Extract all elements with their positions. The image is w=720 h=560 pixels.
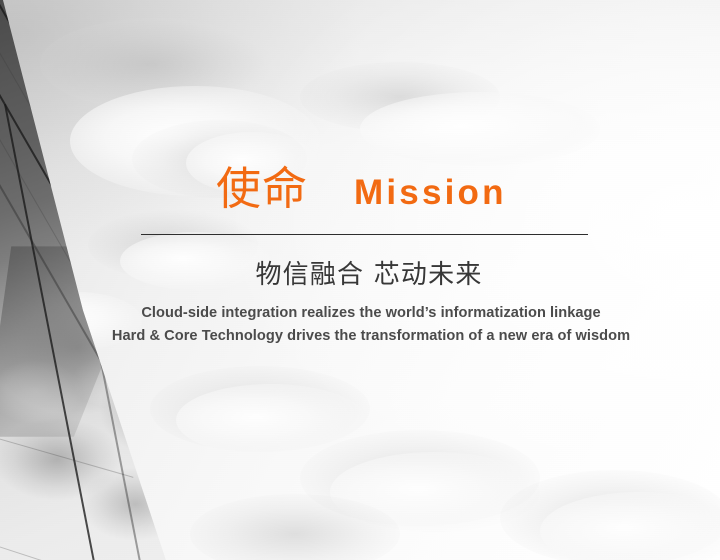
- mission-subtitle-cn: 物信融合 芯动未来: [0, 258, 720, 292]
- mission-title-en: Mission: [354, 175, 507, 210]
- title-divider: [141, 234, 588, 235]
- mission-banner: 使命 Mission 物信融合 芯动未来 Cloud-side integrat…: [0, 0, 720, 560]
- mission-title-cn: 使命: [216, 166, 308, 211]
- mission-title: 使命 Mission: [216, 166, 507, 211]
- mission-tagline-line-1: Cloud-side integration realizes the worl…: [0, 302, 720, 324]
- mission-tagline-line-2: Hard & Core Technology drives the transf…: [0, 325, 720, 347]
